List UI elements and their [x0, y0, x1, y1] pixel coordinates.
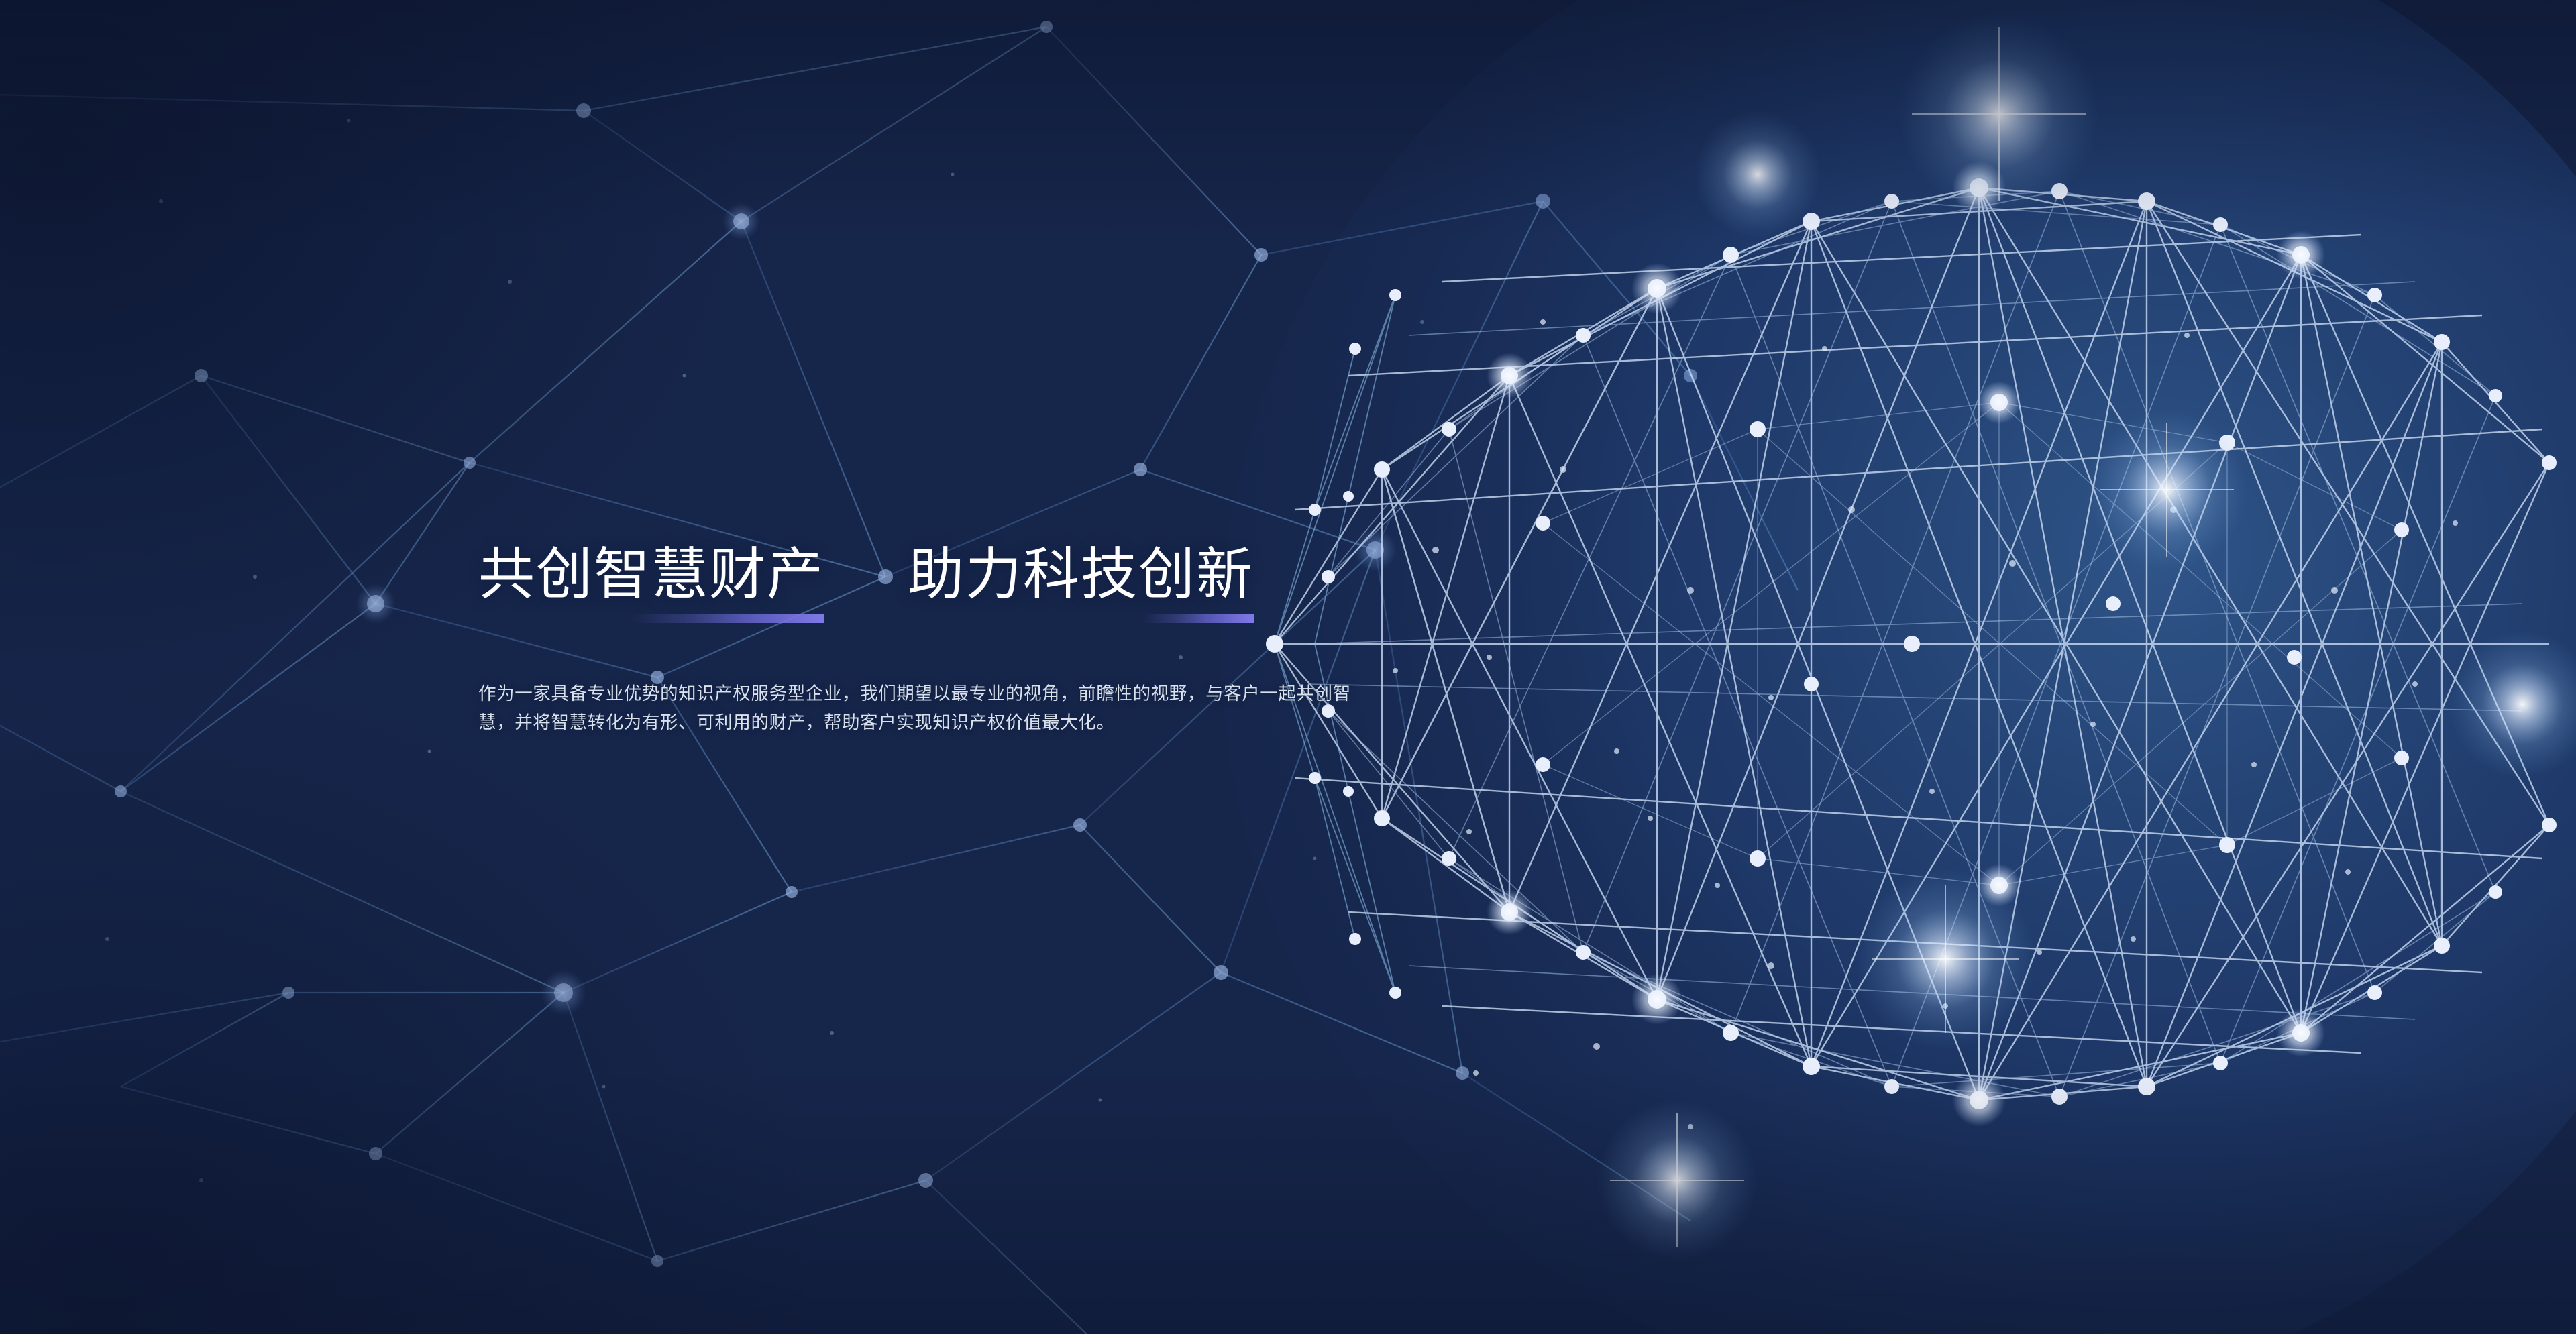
headline-phrase-2: 助力科技创新 [908, 545, 1254, 604]
hero-content: 共创智慧财产 助力科技创新 作为一家具备专业优势的知识产权服务型企业，我们期望以… [478, 545, 1431, 755]
hero-description: 作为一家具备专业优势的知识产权服务型企业，我们期望以最专业的视角，前瞻性的视野，… [478, 679, 1385, 737]
headline: 共创智慧财产 助力科技创新 [478, 545, 1431, 604]
hero-banner: 共创智慧财产 助力科技创新 作为一家具备专业优势的知识产权服务型企业，我们期望以… [0, 0, 2576, 1334]
headline-phrase-2-text: 助力科技创新 [908, 545, 1254, 604]
headline-underline-1 [631, 614, 824, 623]
headline-underline-2 [1143, 614, 1254, 623]
headline-phrase-1-text: 共创智慧财产 [478, 545, 824, 604]
headline-phrase-1: 共创智慧财产 [478, 545, 824, 604]
